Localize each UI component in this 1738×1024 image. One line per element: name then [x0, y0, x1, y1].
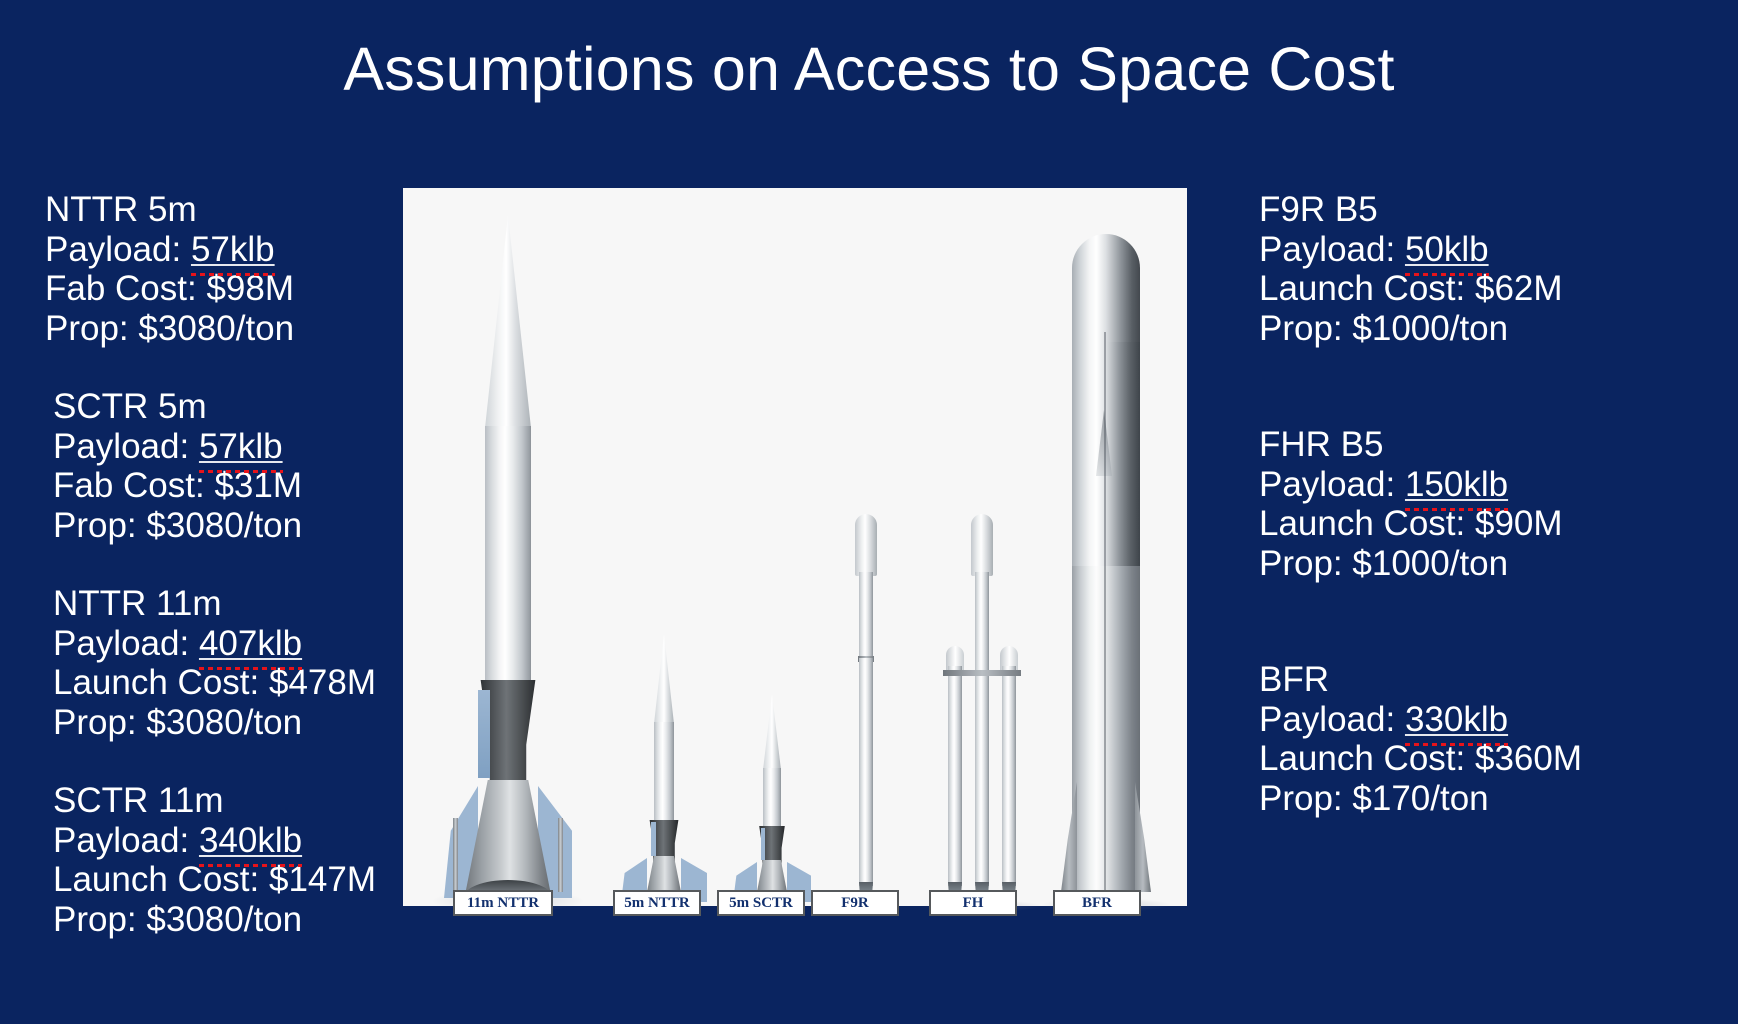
- spec-block-f9r-b5: F9R B5 Payload: 50klb Launch Cost: $62M …: [1259, 190, 1582, 348]
- spec-block-nttr-5m: NTTR 5m Payload: 57klb Fab Cost: $98M Pr…: [45, 190, 376, 348]
- spec-value: 340klb: [199, 821, 302, 861]
- payload-fairing: [971, 514, 993, 576]
- caption-11m-nttr: 11m NTTR: [453, 890, 553, 916]
- spec-label: Prop:: [45, 309, 129, 348]
- spec-line-payload: Payload: 330klb: [1259, 700, 1582, 740]
- spec-value: 407klb: [199, 624, 302, 664]
- spec-label: Prop:: [1259, 779, 1343, 818]
- spec-value: $1000/ton: [1352, 544, 1508, 583]
- spec-title: F9R B5: [1259, 190, 1582, 230]
- caption-bfr: BFR: [1053, 890, 1141, 916]
- rocket-falcon-heavy: [928, 206, 1036, 906]
- wing-right: [1135, 782, 1151, 892]
- body-tube: [485, 426, 531, 688]
- spec-value: 57klb: [199, 427, 283, 467]
- spec-value: 330klb: [1405, 700, 1508, 740]
- skirt-highlight: [478, 690, 490, 778]
- spec-block-fhr-b5: FHR B5 Payload: 150klb Launch Cost: $90M…: [1259, 425, 1582, 583]
- caption-fh: FH: [929, 890, 1017, 916]
- spec-title: NTTR 11m: [53, 584, 376, 624]
- spec-line-prop: Prop: $3080/ton: [53, 506, 376, 546]
- spec-label: Payload:: [1259, 700, 1395, 739]
- spec-line-prop: Prop: $1000/ton: [1259, 309, 1582, 349]
- first-stage: [859, 658, 873, 886]
- spec-label: Payload:: [1259, 465, 1395, 504]
- caption-5m-nttr: 5m NTTR: [613, 890, 701, 916]
- caption-5m-sctr: 5m SCTR: [717, 890, 805, 916]
- payload-fairing: [855, 514, 877, 576]
- body-tube: [763, 768, 781, 830]
- skirt-highlight: [651, 822, 656, 856]
- spec-label: Fab Cost:: [45, 269, 197, 308]
- spec-label: Payload:: [1259, 230, 1395, 269]
- skirt-highlight: [761, 828, 765, 860]
- spec-line-payload: Payload: 57klb: [53, 427, 376, 467]
- spec-block-nttr-11m: NTTR 11m Payload: 407klb Launch Cost: $4…: [45, 584, 376, 742]
- spec-value: 57klb: [191, 230, 275, 270]
- spec-label: Fab Cost:: [53, 466, 205, 505]
- wing-left: [1061, 782, 1077, 892]
- spec-label: Prop:: [53, 900, 137, 939]
- spec-block-sctr-11m: SCTR 11m Payload: 340klb Launch Cost: $1…: [45, 781, 376, 939]
- booster-right: [1002, 666, 1016, 886]
- spec-line-prop: Prop: $3080/ton: [53, 703, 376, 743]
- booster-stage: [1072, 566, 1140, 892]
- spec-value: $170/ton: [1352, 779, 1488, 818]
- body-tube: [654, 722, 674, 828]
- rocket-5m-nttr: [621, 206, 707, 906]
- spec-label: Prop:: [53, 703, 137, 742]
- spec-title: NTTR 5m: [45, 190, 376, 230]
- spec-title: SCTR 11m: [53, 781, 376, 821]
- left-spec-column: NTTR 5m Payload: 57klb Fab Cost: $98M Pr…: [45, 190, 376, 978]
- page-title: Assumptions on Access to Space Cost: [0, 34, 1738, 104]
- nose-cone: [485, 215, 531, 428]
- spec-value: 150klb: [1405, 465, 1508, 505]
- spec-line-prop: Prop: $1000/ton: [1259, 544, 1582, 584]
- rocket-f9r: [835, 206, 895, 906]
- body-seam: [1104, 332, 1106, 892]
- nose-cone: [654, 634, 674, 724]
- spec-value: $3080/ton: [146, 506, 302, 545]
- spec-title: BFR: [1259, 660, 1582, 700]
- rocket-bfr: [1051, 206, 1161, 906]
- spec-title: FHR B5: [1259, 425, 1582, 465]
- spec-label: Payload:: [53, 821, 189, 860]
- nose-cone: [763, 694, 781, 770]
- spec-line-payload: Payload: 407klb: [53, 624, 376, 664]
- spec-block-bfr: BFR Payload: 330klb Launch Cost: $360M P…: [1259, 660, 1582, 818]
- spec-label: Payload:: [45, 230, 181, 269]
- spec-label: Payload:: [53, 427, 199, 466]
- spec-line-payload: Payload: 50klb: [1259, 230, 1582, 270]
- spec-label: Prop:: [1259, 309, 1343, 348]
- spec-label: Prop:: [1259, 544, 1343, 583]
- strut-right: [558, 818, 563, 892]
- right-spec-column: F9R B5 Payload: 50klb Launch Cost: $62M …: [1259, 190, 1582, 857]
- spec-line-prop: Prop: $3080/ton: [45, 309, 376, 349]
- slide-canvas: Assumptions on Access to Space Cost NTTR…: [0, 0, 1738, 1024]
- spec-label: Payload:: [53, 624, 189, 663]
- spec-title: SCTR 5m: [53, 387, 376, 427]
- second-stage: [975, 572, 989, 658]
- center-core: [975, 658, 989, 886]
- spec-value: $3080/ton: [146, 703, 302, 742]
- spec-line-payload: Payload: 340klb: [53, 821, 376, 861]
- rocket-11m-nttr: [448, 206, 568, 906]
- spec-line-prop: Prop: $3080/ton: [53, 900, 376, 940]
- spec-line-payload: Payload: 57klb: [45, 230, 376, 270]
- rocket-5m-sctr: [733, 206, 811, 906]
- rocket-comparison-figure: [403, 188, 1187, 906]
- booster-left: [948, 666, 962, 886]
- spec-value: $1000/ton: [1352, 309, 1508, 348]
- interstage-ring: [943, 670, 1021, 676]
- nose-cone: [1072, 234, 1140, 346]
- spec-value: $3080/ton: [138, 309, 294, 348]
- spec-line-prop: Prop: $170/ton: [1259, 779, 1582, 819]
- strut-left: [453, 818, 458, 892]
- second-stage: [859, 572, 873, 658]
- spec-block-sctr-5m: SCTR 5m Payload: 57klb Fab Cost: $31M Pr…: [45, 387, 376, 545]
- spec-line-payload: Payload: 150klb: [1259, 465, 1582, 505]
- spec-label: Prop:: [53, 506, 137, 545]
- spec-value: 50klb: [1405, 230, 1489, 270]
- spec-value: $3080/ton: [146, 900, 302, 939]
- caption-f9r: F9R: [811, 890, 899, 916]
